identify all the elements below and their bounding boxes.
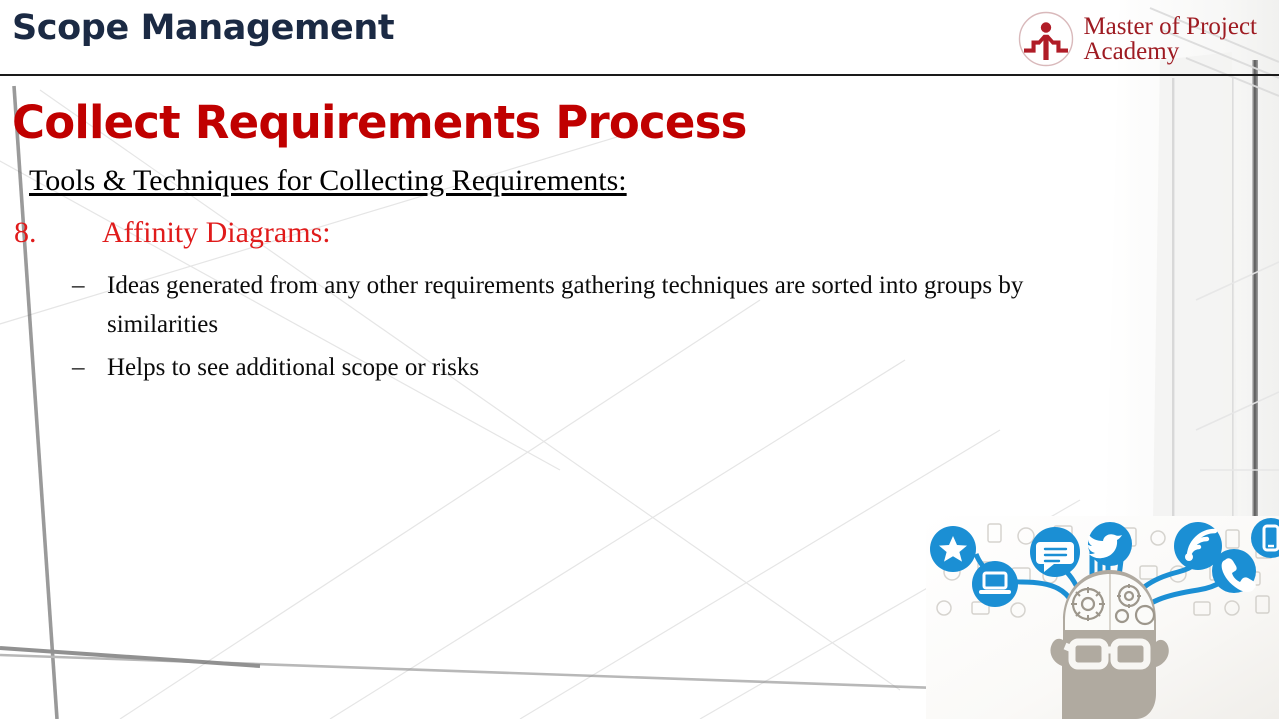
bullet-dash-icon: – bbox=[72, 266, 107, 305]
bullet-list: – Ideas generated from any other require… bbox=[72, 266, 1122, 391]
list-item-label: Affinity Diagrams: bbox=[102, 216, 331, 249]
star-icon bbox=[930, 526, 976, 572]
brand-logo-line-1: Master of Project bbox=[1083, 14, 1257, 40]
brand-logo: Master of Project Academy bbox=[1018, 11, 1257, 67]
slide-subheading: Tools & Techniques for Collecting Requir… bbox=[29, 164, 627, 198]
slide-heading: Collect Requirements Process bbox=[12, 96, 747, 149]
brand-logo-line-2: Academy bbox=[1083, 39, 1257, 65]
laptop-icon bbox=[972, 561, 1018, 607]
academy-circle-figure-icon bbox=[1018, 11, 1074, 67]
brand-logo-text: Master of Project Academy bbox=[1083, 14, 1257, 65]
slide-header: Scope Management Master of Project Acade… bbox=[0, 0, 1279, 76]
bullet-dash-icon: – bbox=[72, 348, 107, 387]
phone-icon bbox=[1212, 549, 1256, 593]
numbered-list-item-8: 8.Affinity Diagrams: bbox=[14, 216, 331, 250]
chat-bubble-icon bbox=[1030, 527, 1080, 577]
list-item-text: Ideas generated from any other requireme… bbox=[107, 266, 1107, 344]
presentation-slide: Scope Management Master of Project Acade… bbox=[0, 0, 1279, 719]
header-divider bbox=[0, 74, 1279, 76]
list-item: – Ideas generated from any other require… bbox=[72, 266, 1122, 344]
brain-social-icons-illustration bbox=[926, 516, 1279, 719]
list-item-text: Helps to see additional scope or risks bbox=[107, 348, 1107, 387]
page-title: Scope Management bbox=[12, 8, 394, 48]
list-number: 8. bbox=[14, 216, 102, 250]
bird-social-icon bbox=[1088, 522, 1132, 566]
list-item: – Helps to see additional scope or risks bbox=[72, 348, 1122, 387]
